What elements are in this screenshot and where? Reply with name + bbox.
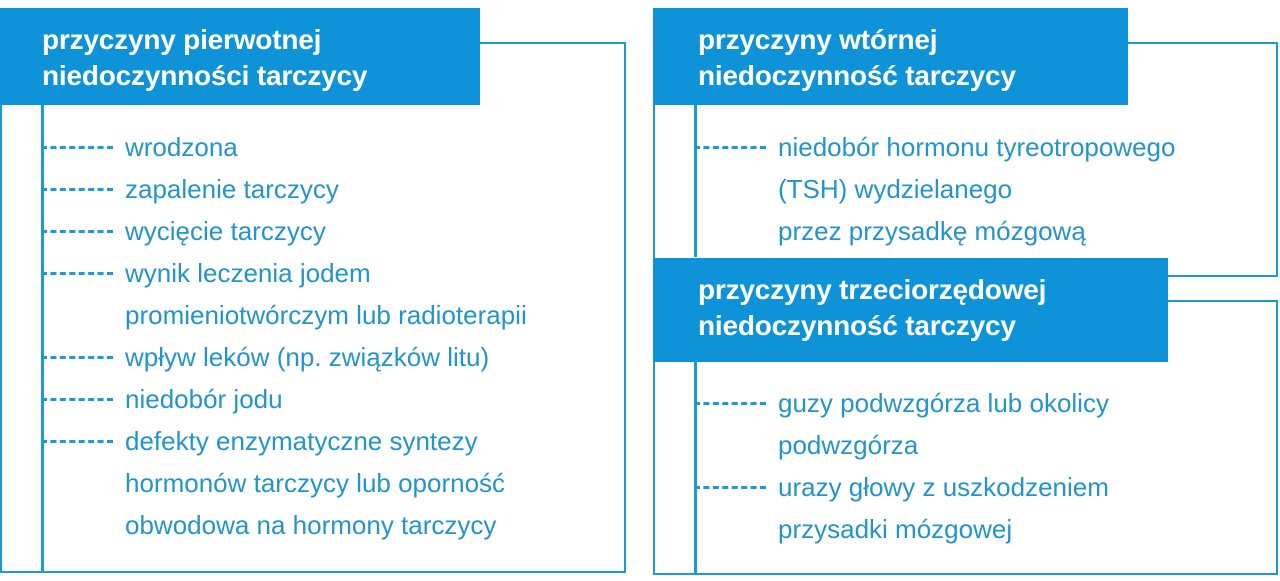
list-item: wycięcie tarczycy <box>41 210 621 252</box>
tertiary-causes-header: przyczyny trzeciorzędowej niedoczynność … <box>653 258 1168 362</box>
list-item-label: niedobór jodu <box>125 378 283 420</box>
list-item-label: urazy głowy z uszkodzeniem <box>778 466 1109 508</box>
list-item-label: guzy podwzgórza lub okolicy <box>778 382 1109 424</box>
list-item-label: niedobór hormonu tyreotropowego <box>778 126 1175 168</box>
list-item-label: obwodowa na hormony tarczycy <box>125 504 496 546</box>
list-item-label: wpływ leków (np. związków litu) <box>125 336 489 378</box>
list-item: niedobór jodu <box>41 378 621 420</box>
list-item: wpływ leków (np. związków litu) <box>41 336 621 378</box>
list-item: defekty enzymatyczne syntezy <box>41 420 621 462</box>
dashed-connector-icon <box>41 356 113 359</box>
list-item: niedobór hormonu tyreotropowego <box>694 126 1274 168</box>
list-item-label: wynik leczenia jodem <box>125 252 371 294</box>
primary-causes-header: przyczyny pierwotnej niedoczynności tarc… <box>0 8 480 105</box>
list-item-label: hormonów tarczycy lub oporność <box>125 462 505 504</box>
primary-causes-list: wrodzona zapalenie tarczycy wycięcie tar… <box>41 126 621 546</box>
dashed-connector-icon <box>41 272 113 275</box>
dashed-connector-icon <box>694 486 766 489</box>
list-item-label: wycięcie tarczycy <box>125 210 326 252</box>
secondary-causes-header: przyczyny wtórnej niedoczynność tarczycy <box>653 8 1128 105</box>
list-item-continuation: przez przysadkę mózgową <box>694 210 1274 252</box>
list-item-label: (TSH) wydzielanego <box>778 168 1012 210</box>
list-item-label: wrodzona <box>125 126 238 168</box>
list-item: wynik leczenia jodem <box>41 252 621 294</box>
list-item: urazy głowy z uszkodzeniem <box>694 466 1274 508</box>
diagram-canvas: przyczyny pierwotnej niedoczynności tarc… <box>0 0 1280 581</box>
list-item: wrodzona <box>41 126 621 168</box>
dashed-connector-icon <box>41 188 113 191</box>
secondary-causes-list: niedobór hormonu tyreotropowego (TSH) wy… <box>694 126 1274 252</box>
dashed-connector-icon <box>694 146 766 149</box>
list-item-label: zapalenie tarczycy <box>125 168 339 210</box>
tertiary-causes-list: guzy podwzgórza lub okolicy podwzgórza u… <box>694 382 1274 550</box>
list-item-label: defekty enzymatyczne syntezy <box>125 420 478 462</box>
dashed-connector-icon <box>41 230 113 233</box>
list-item-continuation: przysadki mózgowej <box>694 508 1274 550</box>
list-item: zapalenie tarczycy <box>41 168 621 210</box>
list-item-continuation: podwzgórza <box>694 424 1274 466</box>
dashed-connector-icon <box>41 146 113 149</box>
list-item-continuation: promieniotwórczym lub radioterapii <box>41 294 621 336</box>
dashed-connector-icon <box>41 440 113 443</box>
list-item: guzy podwzgórza lub okolicy <box>694 382 1274 424</box>
list-item-continuation: hormonów tarczycy lub oporność <box>41 462 621 504</box>
dashed-connector-icon <box>694 402 766 405</box>
list-item-continuation: obwodowa na hormony tarczycy <box>41 504 621 546</box>
list-item-label: przez przysadkę mózgową <box>778 210 1086 252</box>
list-item-label: podwzgórza <box>778 424 918 466</box>
list-item-label: przysadki mózgowej <box>778 508 1012 550</box>
list-item-continuation: (TSH) wydzielanego <box>694 168 1274 210</box>
dashed-connector-icon <box>41 398 113 401</box>
list-item-label: promieniotwórczym lub radioterapii <box>125 294 527 336</box>
